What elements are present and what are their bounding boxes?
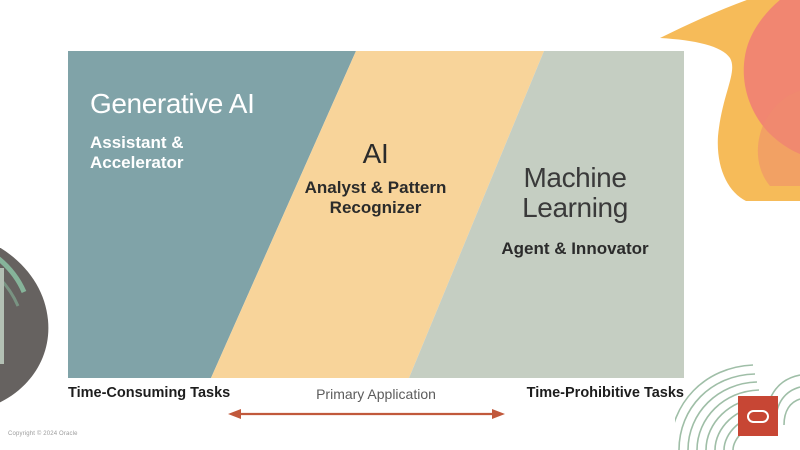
band-label-generative-ai: Generative AI Assistant & Accelerator	[90, 89, 275, 173]
band-subtitle-machine-learning: Agent & Innovator	[480, 239, 670, 259]
oracle-logo	[738, 396, 778, 436]
band-subtitle-ai: Analyst & Pattern Recognizer	[283, 178, 468, 218]
axis-label-row: Time-Consuming Tasks Primary Application…	[68, 385, 684, 407]
band-subtitle-generative-ai: Assistant & Accelerator	[90, 133, 275, 173]
double-headed-arrow	[228, 406, 505, 422]
arrowhead-left	[228, 409, 241, 419]
band-title-machine-learning: Machine Learning	[480, 163, 670, 223]
decorative-bar-left	[0, 268, 4, 364]
spectrum-diagram: Generative AI Assistant & Accelerator AI…	[68, 51, 684, 378]
band-label-machine-learning: Machine Learning Agent & Innovator	[480, 163, 670, 260]
arrowhead-right	[492, 409, 505, 419]
band-title-ai: AI	[283, 139, 468, 169]
band-label-ai: AI Analyst & Pattern Recognizer	[283, 139, 468, 218]
band-title-generative-ai: Generative AI	[90, 89, 275, 119]
axis-label-right: Time-Prohibitive Tasks	[527, 385, 684, 401]
copyright-text: Copyright © 2024 Oracle	[8, 431, 78, 437]
slide-canvas: Generative AI Assistant & Accelerator AI…	[0, 0, 800, 450]
oracle-o-icon	[747, 410, 769, 423]
